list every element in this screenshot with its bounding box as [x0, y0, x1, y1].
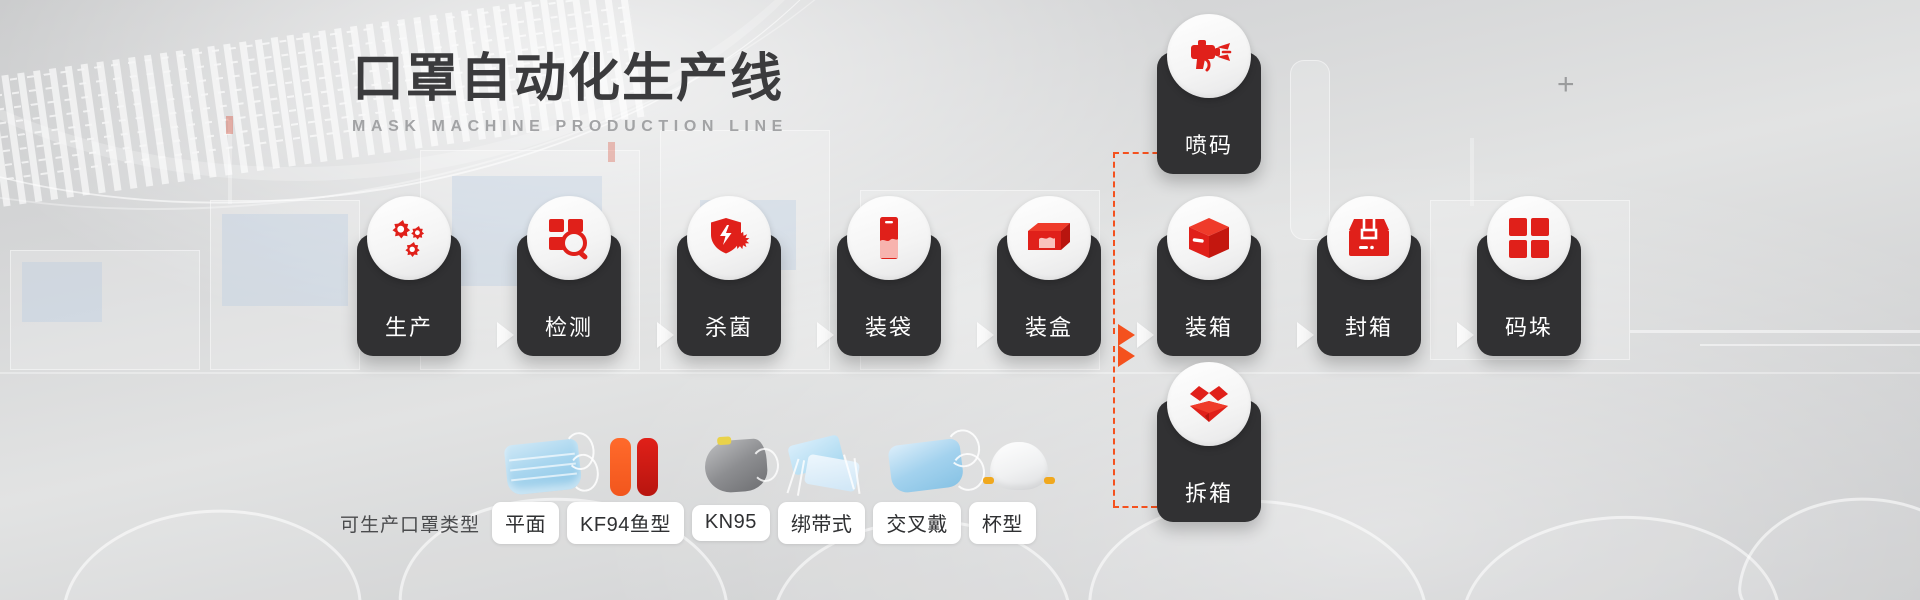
boxing-carton-icon: [1007, 196, 1091, 280]
mask-type-tag-kf94[interactable]: KF94鱼型: [567, 502, 684, 544]
floor-line: [0, 372, 1920, 374]
palletizing-grid-icon: [1487, 196, 1571, 280]
node-card[interactable]: 码垛: [1477, 234, 1581, 356]
flow-node-sealing[interactable]: 封箱: [1317, 234, 1421, 356]
red-light-2: [608, 142, 615, 162]
unpacking-open-box-icon: [1167, 362, 1251, 446]
flow-node-palletizing[interactable]: 码垛: [1477, 234, 1581, 356]
chevron-separator-6: [1297, 322, 1314, 348]
mask-type-tag-kn95[interactable]: KN95: [692, 505, 770, 541]
node-label: 装盒: [1025, 310, 1073, 342]
conveyor-line-2: [1700, 344, 1920, 346]
flow-node-inspection[interactable]: 检测: [517, 234, 621, 356]
node-card[interactable]: 杀菌: [677, 234, 781, 356]
node-card[interactable]: 封箱: [1317, 234, 1421, 356]
banner-heading: 口罩自动化生产线 MASK MACHINE PRODUCTION LINE: [352, 48, 788, 136]
branch-arrow-to-boxing: [1118, 324, 1135, 346]
branch-line-up-vertical: [1113, 152, 1115, 334]
machine-post-2: [1470, 138, 1474, 206]
cup-mask-photo: [990, 442, 1048, 490]
flow-node-case-packing[interactable]: 装箱: [1157, 234, 1261, 356]
ghost-mask-6: [1734, 487, 1920, 600]
flat-blue-mask-photo: [506, 442, 580, 492]
kn95-gray-mask-photo: [705, 440, 767, 492]
machine-post-1: [228, 120, 232, 204]
inkjet-spray-gun-icon: [1167, 14, 1251, 98]
machine-silhouette-1: [10, 250, 200, 370]
mask-type-tag-tie-on[interactable]: 绑带式: [778, 502, 866, 544]
node-card[interactable]: 装箱: [1157, 234, 1261, 356]
cross-wear-mask-photo: [890, 442, 962, 490]
mask-types-section: 可生产口罩类型 平面 KF94鱼型 KN95 绑带式 交叉戴 杯型: [340, 430, 1036, 544]
page-subtitle: MASK MACHINE PRODUCTION LINE: [352, 118, 788, 136]
gears-icon: [367, 196, 451, 280]
node-label: 装箱: [1185, 310, 1233, 342]
plus-decoration: +: [1557, 70, 1575, 100]
mask-type-tag-cross-wear[interactable]: 交叉戴: [873, 502, 961, 544]
mask-photo-row: [340, 430, 1036, 496]
carton-sealing-icon: [1327, 196, 1411, 280]
case-packing-box-icon: [1167, 196, 1251, 280]
conveyor-line-1: [1630, 330, 1920, 333]
chevron-separator-5: [1137, 322, 1154, 348]
machine-silhouette-6: [1290, 60, 1330, 240]
mask-types-caption: 可生产口罩类型: [340, 510, 480, 537]
machine-panel-1: [22, 262, 102, 322]
inspection-magnifier-icon: [527, 196, 611, 280]
node-label: 生产: [385, 310, 433, 342]
branch-line-down-vertical: [1113, 346, 1115, 506]
ghost-mask-1: [55, 500, 365, 600]
node-card[interactable]: 装盒: [997, 234, 1101, 356]
chevron-separator-3: [817, 322, 834, 348]
flow-node-bagging[interactable]: 装袋: [837, 234, 941, 356]
node-label: 码垛: [1505, 310, 1553, 342]
flow-node-coding[interactable]: 喷码: [1157, 52, 1261, 174]
red-light-1: [226, 116, 233, 134]
flow-node-unpacking[interactable]: 拆箱: [1157, 400, 1261, 522]
node-label: 封箱: [1345, 310, 1393, 342]
node-card[interactable]: 拆箱: [1157, 400, 1261, 522]
node-card[interactable]: 喷码: [1157, 52, 1261, 174]
machine-panel-2: [222, 214, 348, 306]
bagging-pouch-icon: [847, 196, 931, 280]
chevron-separator-7: [1457, 322, 1474, 348]
node-label: 喷码: [1185, 128, 1233, 160]
chevron-separator-2: [657, 322, 674, 348]
kf94-fish-mask-photo: [610, 438, 664, 496]
node-card[interactable]: 生产: [357, 234, 461, 356]
flow-node-cartoning[interactable]: 装盒: [997, 234, 1101, 356]
flow-node-production[interactable]: 生产: [357, 234, 461, 356]
branch-arrow-from-unpacking: [1118, 345, 1135, 367]
node-label: 杀菌: [705, 310, 753, 342]
tie-on-mask-photo: [790, 440, 864, 494]
chevron-separator-4: [977, 322, 994, 348]
node-label: 拆箱: [1185, 476, 1233, 508]
node-card[interactable]: 装袋: [837, 234, 941, 356]
mask-types-tag-row: 可生产口罩类型 平面 KF94鱼型 KN95 绑带式 交叉戴 杯型: [340, 502, 1036, 544]
flow-node-sterilization[interactable]: 杀菌: [677, 234, 781, 356]
node-card[interactable]: 检测: [517, 234, 621, 356]
chevron-separator-1: [497, 322, 514, 348]
node-label: 装袋: [865, 310, 913, 342]
banner-stage: + 口罩自动化生产线 MASK MACHINE PRODUCTION LINE: [0, 0, 1920, 600]
mask-type-tag-cup[interactable]: 杯型: [969, 502, 1036, 544]
ghost-mask-5: [1457, 510, 1782, 600]
shield-sterilize-icon: [687, 196, 771, 280]
mask-type-tag-flat[interactable]: 平面: [492, 502, 559, 544]
node-label: 检测: [545, 310, 593, 342]
page-title: 口罩自动化生产线: [352, 48, 788, 110]
machine-silhouette-2: [210, 200, 360, 370]
